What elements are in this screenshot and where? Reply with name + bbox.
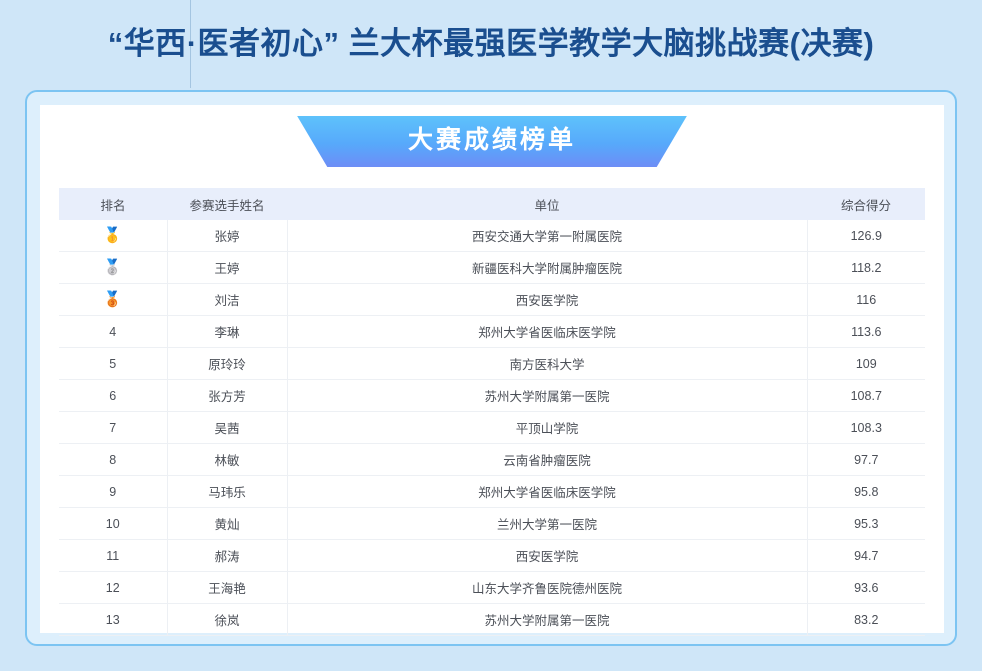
table-row: 🥈王婷新疆医科大学附属肿瘤医院118.2 <box>59 252 925 284</box>
table-row: 11郝涛西安医学院94.7 <box>59 540 925 572</box>
cell-rank: 5 <box>59 348 167 380</box>
cell-name: 马玮乐 <box>167 476 287 508</box>
column-header-score: 综合得分 <box>807 188 925 220</box>
cell-name: 王婷 <box>167 252 287 284</box>
cell-name: 徐岚 <box>167 604 287 636</box>
page-title: “华西·医者初心” 兰大杯最强医学教学大脑挑战赛(决赛) <box>0 0 982 88</box>
cell-unit: 西安医学院 <box>287 284 807 316</box>
table-row: 🥉刘洁西安医学院116 <box>59 284 925 316</box>
cell-rank: 8 <box>59 444 167 476</box>
cell-unit: 苏州大学附属第一医院 <box>287 604 807 636</box>
banner: 大赛成绩榜单 <box>40 105 944 167</box>
table-row: 7吴茜平顶山学院108.3 <box>59 412 925 444</box>
cell-unit: 西安医学院 <box>287 540 807 572</box>
cell-score: 95.3 <box>807 508 925 540</box>
bronze-medal-icon: 🥉 <box>103 292 122 307</box>
table-row: 8林敏云南省肿瘤医院97.7 <box>59 444 925 476</box>
cell-name: 刘洁 <box>167 284 287 316</box>
column-header-rank: 排名 <box>59 188 167 220</box>
cell-name: 吴茜 <box>167 412 287 444</box>
cell-rank: 4 <box>59 316 167 348</box>
table-row: 10黄灿兰州大学第一医院95.3 <box>59 508 925 540</box>
cell-score: 116 <box>807 284 925 316</box>
cell-name: 原玲玲 <box>167 348 287 380</box>
table-row: 13徐岚苏州大学附属第一医院83.2 <box>59 604 925 636</box>
gold-medal-icon: 🥇 <box>103 228 122 243</box>
cell-rank: 7 <box>59 412 167 444</box>
cell-rank: 6 <box>59 380 167 412</box>
table-header-row: 排名 参赛选手姓名 单位 综合得分 <box>59 188 925 220</box>
table-row: 🥇张婷西安交通大学第一附属医院126.9 <box>59 220 925 252</box>
table-row: 4李琳郑州大学省医临床医学院113.6 <box>59 316 925 348</box>
cell-rank: 9 <box>59 476 167 508</box>
table-row: 12王海艳山东大学齐鲁医院德州医院93.6 <box>59 572 925 604</box>
banner-title: 大赛成绩榜单 <box>267 116 717 167</box>
cell-name: 张婷 <box>167 220 287 252</box>
cell-rank: 13 <box>59 604 167 636</box>
cell-score: 93.6 <box>807 572 925 604</box>
cell-score: 94.7 <box>807 540 925 572</box>
table-row: 5原玲玲南方医科大学109 <box>59 348 925 380</box>
cell-unit: 兰州大学第一医院 <box>287 508 807 540</box>
cell-unit: 西安交通大学第一附属医院 <box>287 220 807 252</box>
cell-score: 108.3 <box>807 412 925 444</box>
cell-name: 林敏 <box>167 444 287 476</box>
results-table-wrapper: 排名 参赛选手姓名 单位 综合得分 🥇张婷西安交通大学第一附属医院126.9🥈王… <box>40 188 944 636</box>
table-body: 🥇张婷西安交通大学第一附属医院126.9🥈王婷新疆医科大学附属肿瘤医院118.2… <box>59 220 925 636</box>
cell-unit: 郑州大学省医临床医学院 <box>287 316 807 348</box>
cell-name: 郝涛 <box>167 540 287 572</box>
cell-score: 118.2 <box>807 252 925 284</box>
cell-unit: 平顶山学院 <box>287 412 807 444</box>
column-header-unit: 单位 <box>287 188 807 220</box>
cell-score: 108.7 <box>807 380 925 412</box>
leaderboard-panel: 大赛成绩榜单 排名 参赛选手姓名 单位 综合得分 <box>40 105 944 633</box>
cell-unit: 云南省肿瘤医院 <box>287 444 807 476</box>
results-table: 排名 参赛选手姓名 单位 综合得分 🥇张婷西安交通大学第一附属医院126.9🥈王… <box>59 188 925 636</box>
table-row: 6张方芳苏州大学附属第一医院108.7 <box>59 380 925 412</box>
cell-unit: 苏州大学附属第一医院 <box>287 380 807 412</box>
cell-rank: 🥇 <box>59 220 167 252</box>
table-head: 排名 参赛选手姓名 单位 综合得分 <box>59 188 925 220</box>
table-row: 9马玮乐郑州大学省医临床医学院95.8 <box>59 476 925 508</box>
silver-medal-icon: 🥈 <box>103 260 122 275</box>
cell-rank: 🥉 <box>59 284 167 316</box>
cell-name: 王海艳 <box>167 572 287 604</box>
cell-score: 95.8 <box>807 476 925 508</box>
cell-unit: 新疆医科大学附属肿瘤医院 <box>287 252 807 284</box>
cell-score: 109 <box>807 348 925 380</box>
cell-rank: 11 <box>59 540 167 572</box>
cell-score: 97.7 <box>807 444 925 476</box>
cell-score: 83.2 <box>807 604 925 636</box>
cell-score: 113.6 <box>807 316 925 348</box>
cell-name: 李琳 <box>167 316 287 348</box>
cell-name: 张方芳 <box>167 380 287 412</box>
cell-unit: 郑州大学省医临床医学院 <box>287 476 807 508</box>
cell-rank: 10 <box>59 508 167 540</box>
cell-unit: 山东大学齐鲁医院德州医院 <box>287 572 807 604</box>
leaderboard-card: 大赛成绩榜单 排名 参赛选手姓名 单位 综合得分 <box>25 90 957 646</box>
cell-rank: 12 <box>59 572 167 604</box>
cell-rank: 🥈 <box>59 252 167 284</box>
cell-unit: 南方医科大学 <box>287 348 807 380</box>
cell-name: 黄灿 <box>167 508 287 540</box>
column-header-name: 参赛选手姓名 <box>167 188 287 220</box>
cell-score: 126.9 <box>807 220 925 252</box>
